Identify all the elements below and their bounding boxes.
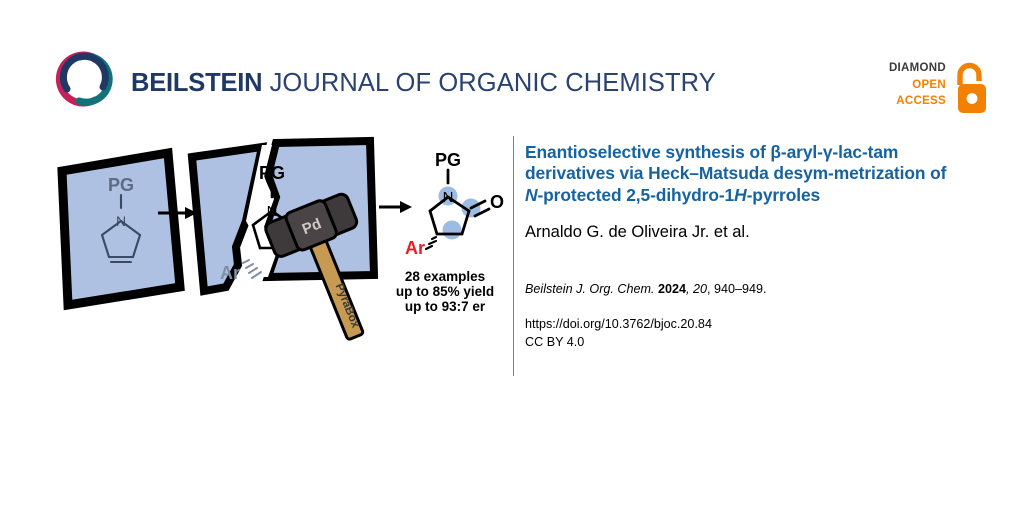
article-title[interactable]: Enantioselective synthesis of β-aryl-γ-l… (525, 142, 965, 206)
product-structure: N PG O Ar 28 examples up to 85% yield up… (396, 150, 504, 314)
beilstein-triple-arc-logo (55, 48, 117, 110)
vertical-divider (513, 136, 514, 376)
title-italic-h: H (734, 185, 746, 205)
stats-line-3: up to 93:7 er (405, 299, 486, 314)
masthead-title-light: JOURNAL OF ORGANIC CHEMISTRY (262, 69, 715, 97)
title-line-4: pyrroles (752, 185, 820, 205)
title-italic-n: N (525, 185, 537, 205)
citation-year: 2024 (658, 282, 686, 296)
stats-line-2: up to 85% yield (396, 284, 494, 299)
article-citation: Beilstein J. Org. Chem. 2024, 20, 940–94… (525, 281, 965, 298)
title-line-1: Enantioselective synthesis of β-aryl-γ-l… (525, 142, 868, 162)
product-o-label: O (490, 192, 504, 212)
product-pg-label: PG (435, 150, 461, 170)
article-doi-block: https://doi.org/10.3762/bjoc.20.84 CC BY… (525, 315, 965, 352)
citation-journal: Beilstein J. Org. Chem. (525, 282, 654, 296)
stats-line-1: 28 examples (405, 269, 485, 284)
title-line-3b: -protected 2,5-dihydro-1 (537, 185, 734, 205)
starting-material-pg-label: PG (108, 175, 134, 195)
highlight-circle-stereocenter (443, 221, 462, 240)
oa-open-label: OPEN (889, 77, 946, 94)
open-padlock-icon (952, 61, 992, 115)
right-arrow-icon-2 (379, 201, 412, 213)
citation-pages: 940–949. (714, 282, 767, 296)
oa-access-label: ACCESS (889, 93, 946, 110)
article-authors: Arnaldo G. de Oliveira Jr. et al. (525, 222, 965, 242)
starting-material-n-label: N (116, 213, 126, 229)
open-access-labels: DIAMOND OPEN ACCESS (889, 60, 946, 110)
graphical-abstract: N PG (40, 135, 510, 385)
citation-comma-2: , (707, 282, 714, 296)
citation-comma-1: , (686, 282, 693, 296)
citation-volume: 20 (693, 282, 707, 296)
masthead-title: BEILSTEIN JOURNAL OF ORGANIC CHEMISTRY (131, 71, 716, 97)
product-n-label: N (443, 189, 454, 206)
product-ar-label: Ar (405, 238, 425, 258)
masthead-title-bold: BEILSTEIN (131, 69, 262, 97)
article-info: Enantioselective synthesis of β-aryl-γ-l… (525, 142, 965, 352)
doi-link[interactable]: https://doi.org/10.3762/bjoc.20.84 (525, 315, 965, 334)
broken-mirror-n-label: N (267, 203, 278, 220)
broken-mirror-ar-label: Ar (220, 263, 240, 283)
title-line-3a: metrization of (834, 163, 947, 183)
broken-mirror-pg-label: PG (259, 163, 285, 183)
diamond-open-access-badge: DIAMOND OPEN ACCESS (872, 60, 992, 118)
license-label: CC BY 4.0 (525, 333, 965, 352)
starting-material-mirror: N PG (62, 153, 180, 305)
oa-diamond-label: DIAMOND (889, 60, 946, 77)
masthead: BEILSTEIN JOURNAL OF ORGANIC CHEMISTRY D… (0, 0, 1024, 128)
